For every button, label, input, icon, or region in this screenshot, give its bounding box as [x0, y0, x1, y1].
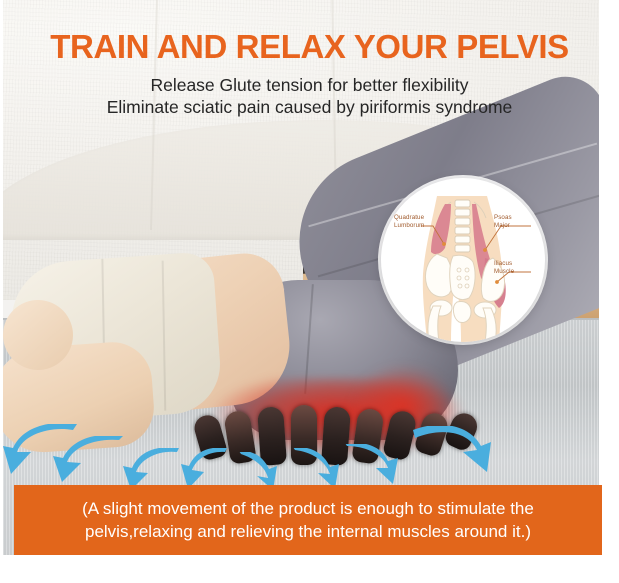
bottom-callout-banner: (A slight movement of the product is eno… — [14, 485, 602, 555]
anatomy-callout-circle: Quadratue Lumborum Psoas Major Iliacus M… — [381, 178, 545, 342]
anatomy-label-quadratus-lumborum: Quadratue Lumborum — [394, 214, 424, 230]
page-subtitle: Release Glute tension for better flexibi… — [0, 74, 619, 118]
banner-line-1: (A slight movement of the product is eno… — [82, 497, 534, 520]
page-title: TRAIN AND RELAX YOUR PELVIS — [0, 28, 619, 66]
banner-text: (A slight movement of the product is eno… — [68, 497, 548, 543]
anatomy-label-iliacus-muscle: Iliacus Muscle — [494, 260, 514, 276]
pelvis-anatomy-illustration — [381, 178, 545, 342]
promo-banner-page: Quadratue Lumborum Psoas Major Iliacus M… — [0, 0, 619, 583]
banner-line-2: pelvis,relaxing and relieving the intern… — [82, 520, 534, 543]
subtitle-line-1: Release Glute tension for better flexibi… — [0, 74, 619, 96]
anatomy-label-psoas-major: Psoas Major — [494, 214, 512, 230]
subtitle-line-2: Eliminate sciatic pain caused by pirifor… — [0, 96, 619, 118]
